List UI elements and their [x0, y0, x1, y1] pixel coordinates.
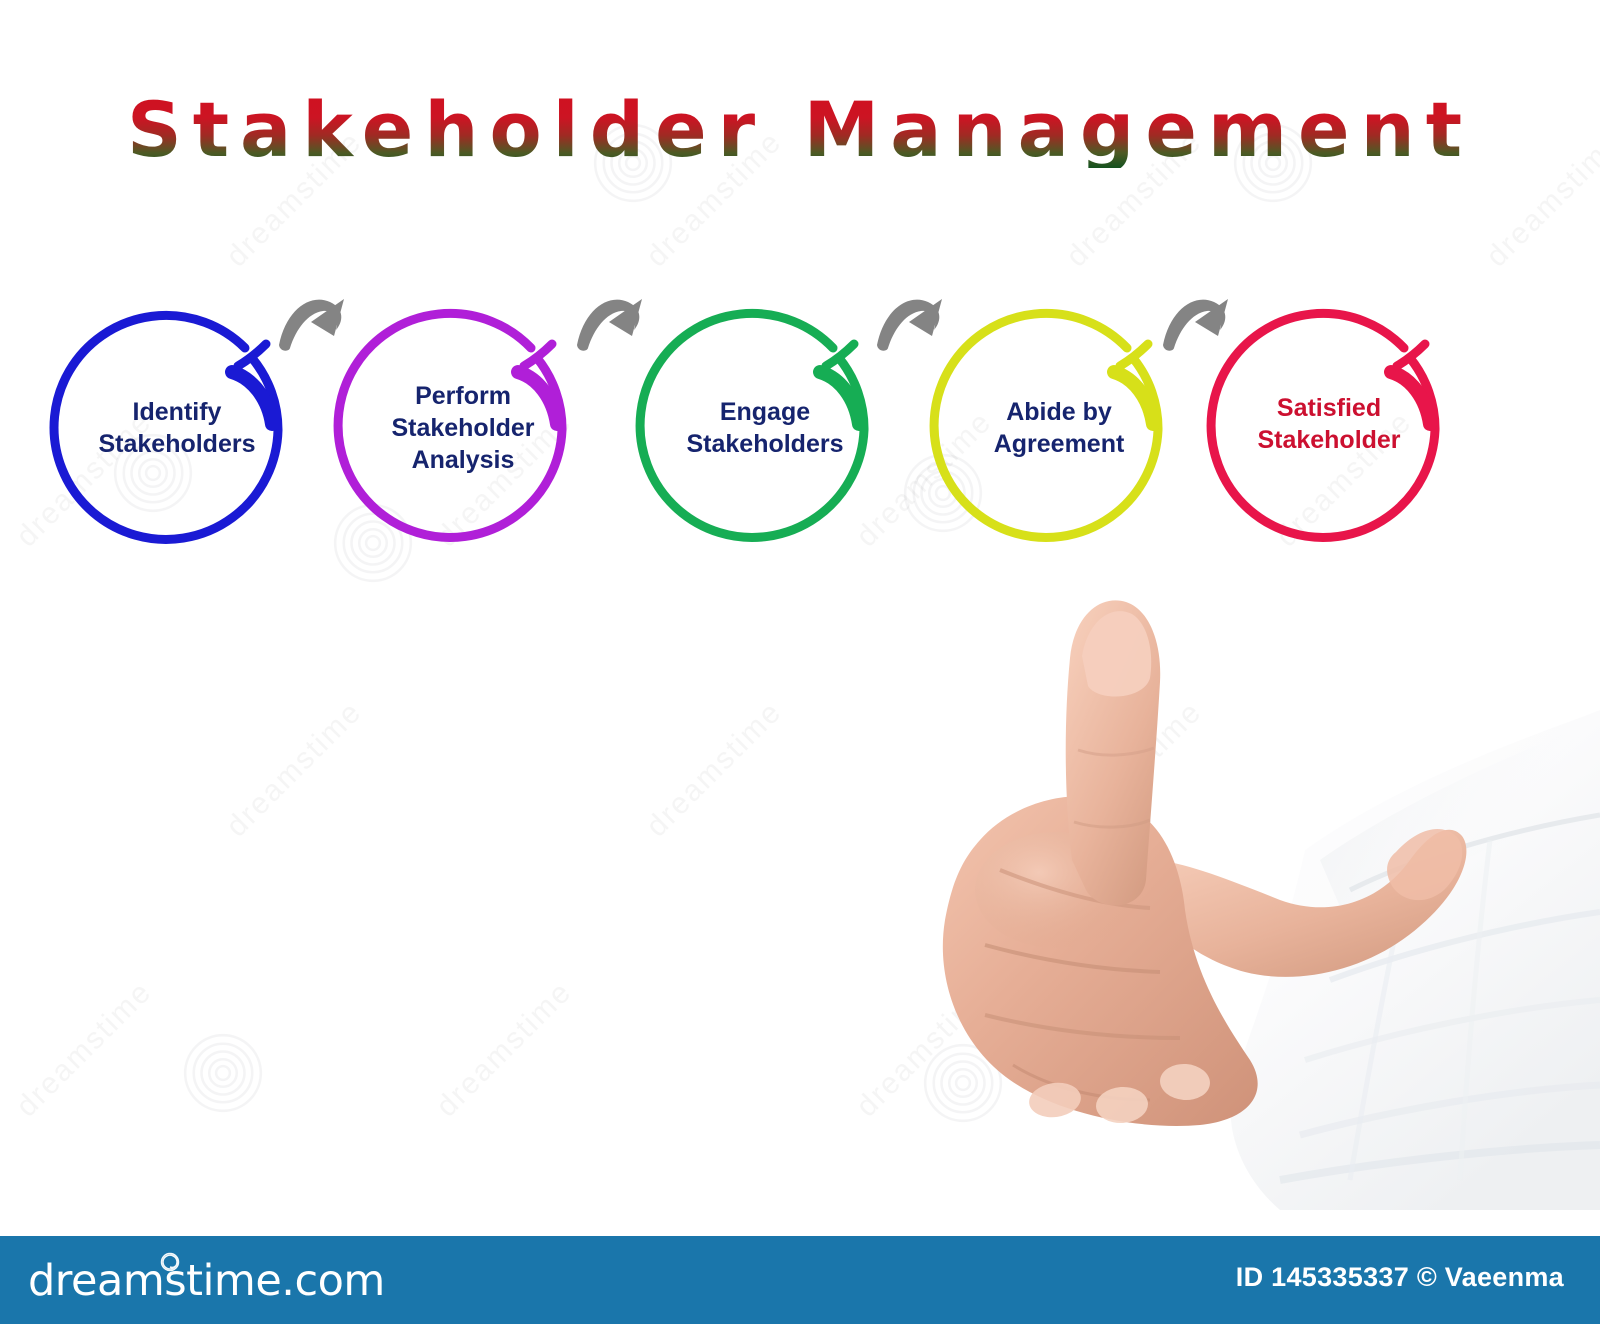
arrow-abide-to-satisfied: [1163, 299, 1228, 351]
image-canvas: dreamstime dreamstime dreamstime dreamst…: [0, 0, 1600, 1324]
step-circle-engage-stakeholders[interactable]: [640, 313, 864, 537]
image-id-and-author: ID 145335337 © Vaeenma: [1236, 1262, 1564, 1293]
arrow-identify-to-perform: [279, 299, 344, 351]
arrow-perform-to-engage: [577, 299, 642, 351]
dreamstime-logo-text[interactable]: dreamstime.com: [28, 1256, 385, 1306]
page-title: Stakeholder Management: [0, 92, 1600, 168]
step-circle-identify-stakeholders[interactable]: [54, 315, 278, 539]
dreamstime-spiral-icon: [160, 1252, 180, 1272]
dreamstime-footer-bar: dreamstime.com ID 145335337 © Vaeenma: [0, 1236, 1600, 1324]
arrow-engage-to-abide: [877, 299, 942, 351]
process-flow-diagram: [0, 0, 1600, 1324]
step-circle-perform-stakeholder-analysis[interactable]: [338, 313, 562, 537]
step-circle-satisfied-stakeholder[interactable]: [1211, 313, 1435, 537]
step-circle-abide-by-agreement[interactable]: [934, 313, 1158, 537]
